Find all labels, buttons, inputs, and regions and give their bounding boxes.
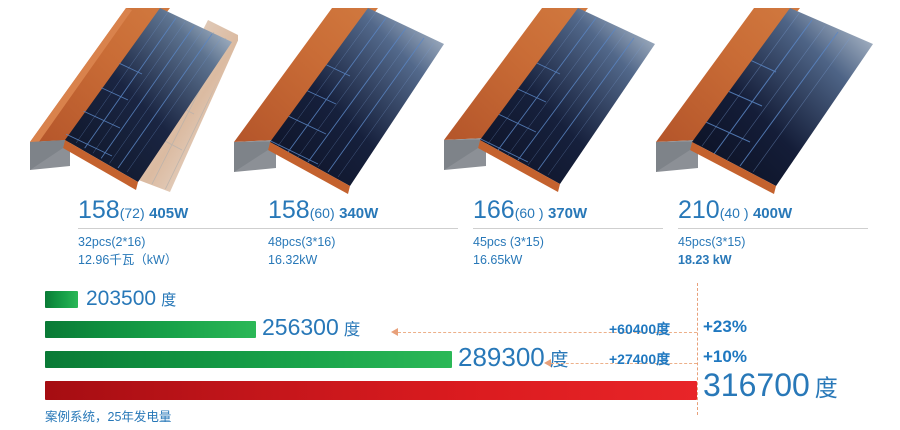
delta-percent-1: +23% xyxy=(703,317,747,337)
spec-block-158-60: 158(60) 340W 48pcs(3*16) 16.32kW xyxy=(268,198,458,269)
spec-divider xyxy=(678,228,868,229)
roof-svg-1 xyxy=(8,0,238,195)
bar-label-203500: 203500度 xyxy=(86,288,176,309)
delta-arrowhead-1 xyxy=(391,328,398,336)
module-count: 48pcs(3*16) xyxy=(268,233,458,251)
system-size: 18.23 kW xyxy=(678,251,868,269)
cell-count-value: (40 ) xyxy=(720,205,749,221)
system-size: 12.96千瓦（kW） xyxy=(78,251,268,269)
bar-label-316700: 316700度 xyxy=(703,369,838,401)
cell-count-value: (60 ) xyxy=(515,205,544,221)
bar-label-289300: 289300度 xyxy=(458,344,568,370)
bar-316700 xyxy=(45,381,697,400)
power-value: 400W xyxy=(753,205,792,222)
spec-divider xyxy=(78,228,268,229)
delta-value-2: +27400度 xyxy=(609,349,670,369)
max-reference-line xyxy=(697,283,698,415)
chart-caption: 案例系统，25年发电量 xyxy=(45,406,171,425)
power-value: 370W xyxy=(548,205,587,222)
power-value: 405W xyxy=(149,205,188,222)
bar-label-256300: 256300度 xyxy=(262,316,360,339)
roof-svg-3 xyxy=(440,0,670,195)
cell-size-value: 158 xyxy=(78,196,120,224)
cell-size-value: 166 xyxy=(473,196,515,224)
roof-svg-2 xyxy=(228,0,458,195)
roof-illustration-210-40 xyxy=(648,0,878,195)
spec-title-158-60: 158(60) 340W xyxy=(268,198,458,227)
cell-count-value: (60) xyxy=(310,205,335,221)
delta-value-1: +60400度 xyxy=(609,319,670,339)
spec-divider xyxy=(473,228,663,229)
spec-block-158-72: 158(72) 405W 32pcs(2*16) 12.96千瓦（kW） xyxy=(78,198,268,269)
spec-title-210-40: 210(40 ) 400W xyxy=(678,198,868,227)
roof-illustration-row xyxy=(0,0,900,195)
energy-yield-bar-chart: 203500度 256300度 289300度 316700度 +60400度 … xyxy=(0,275,900,430)
module-count: 45pcs(3*15) xyxy=(678,233,868,251)
system-size: 16.65kW xyxy=(473,251,663,269)
power-value: 340W xyxy=(339,205,378,222)
bar-289300 xyxy=(45,351,452,368)
cell-size-value: 158 xyxy=(268,196,310,224)
bar-256300 xyxy=(45,321,256,338)
delta-arrowhead-2 xyxy=(544,359,551,367)
spec-title-158-72: 158(72) 405W xyxy=(78,198,268,227)
spec-block-210-40: 210(40 ) 400W 45pcs(3*15) 18.23 kW xyxy=(678,198,868,269)
spec-title-166-60: 166(60 ) 370W xyxy=(473,198,663,227)
spec-divider xyxy=(268,228,458,229)
cell-count-value: (72) xyxy=(120,205,145,221)
spec-block-166-60: 166(60 ) 370W 45pcs (3*15) 16.65kW xyxy=(473,198,663,269)
roof-illustration-158-72 xyxy=(8,0,238,195)
system-size: 16.32kW xyxy=(268,251,458,269)
roof-illustration-166-60 xyxy=(440,0,670,195)
module-count: 45pcs (3*15) xyxy=(473,233,663,251)
module-count: 32pcs(2*16) xyxy=(78,233,268,251)
cell-size-value: 210 xyxy=(678,196,720,224)
delta-percent-2: +10% xyxy=(703,347,747,367)
roof-svg-4 xyxy=(648,0,878,195)
bar-203500 xyxy=(45,291,78,308)
roof-illustration-158-60 xyxy=(228,0,458,195)
